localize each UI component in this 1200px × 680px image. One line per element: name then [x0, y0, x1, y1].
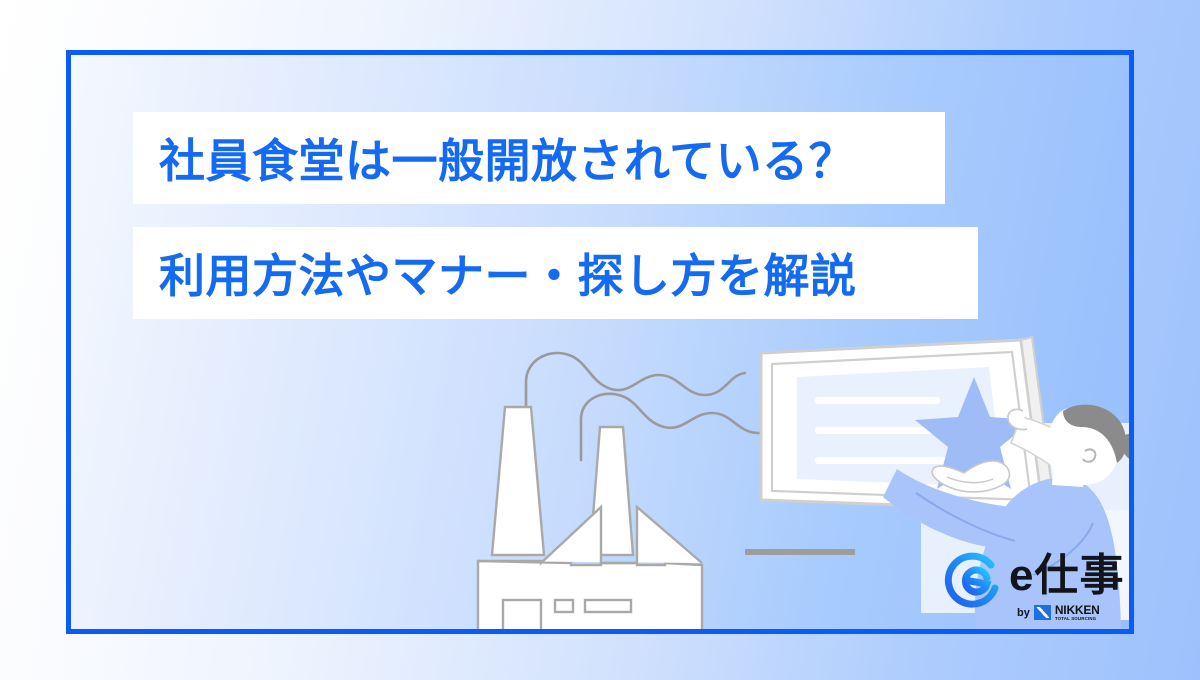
banner-frame: 社員食堂は一般開放されている？ 利用方法やマナー・探し方を解説 e仕事 by	[66, 50, 1134, 634]
nikken-company-name: NIKKEN	[1055, 604, 1100, 616]
logo-by-label: by	[1017, 607, 1030, 619]
e-shigoto-logo-mark-icon	[943, 550, 1003, 608]
nikken-lockup: NIKKEN TOTAL SOURCING	[1055, 604, 1100, 622]
nikken-badge-icon	[1034, 605, 1051, 620]
headline-line-1: 社員食堂は一般開放されている？	[133, 112, 945, 204]
headline-line-2: 利用方法やマナー・探し方を解説	[133, 227, 978, 319]
brand-logo[interactable]: e仕事 by NIKKEN TOTAL SOURCING	[943, 548, 1133, 628]
hero-banner: 社員食堂は一般開放されている？ 利用方法やマナー・探し方を解説 e仕事 by	[0, 0, 1200, 680]
nikken-company-tagline: TOTAL SOURCING	[1055, 617, 1100, 622]
logo-wordmark: e仕事	[1009, 548, 1124, 604]
logo-byline: by NIKKEN TOTAL SOURCING	[1017, 604, 1100, 622]
